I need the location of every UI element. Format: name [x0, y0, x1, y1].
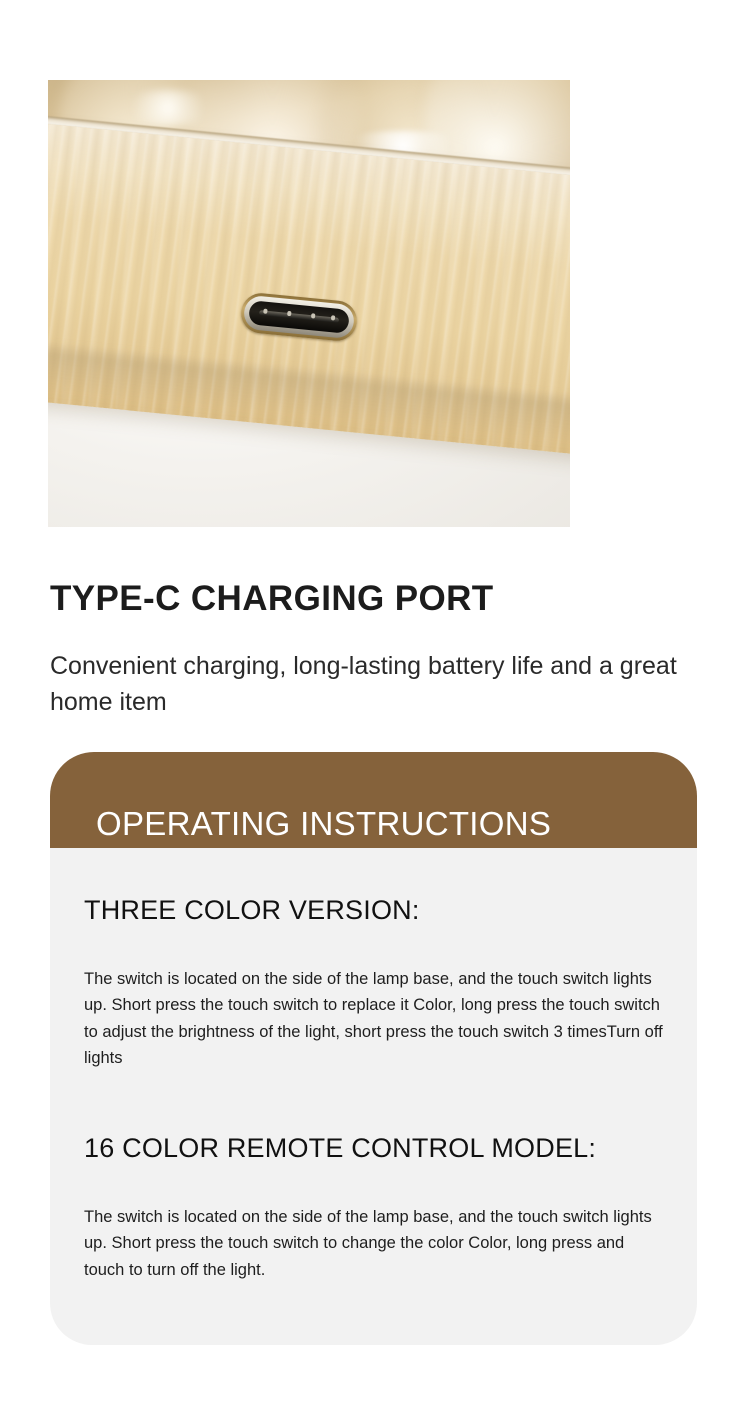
instructions-banner: OPERATING INSTRUCTIONS [50, 752, 697, 848]
product-photo-scene [48, 80, 570, 527]
feature-title: TYPE-C CHARGING PORT [50, 579, 710, 618]
resin-gloss-spot-secondary [121, 90, 215, 126]
section-body: The switch is located on the side of the… [84, 966, 664, 1070]
product-photo [48, 80, 570, 527]
instructions-banner-label: OPERATING INSTRUCTIONS [96, 807, 551, 840]
usb-c-port-rim [243, 294, 356, 339]
instruction-section-sixteen-color: 16 COLOR REMOTE CONTROL MODEL: The switc… [84, 1132, 664, 1283]
section-body: The switch is located on the side of the… [84, 1204, 664, 1282]
usb-c-port-tongue [259, 310, 339, 323]
usb-c-port-cavity [248, 300, 350, 334]
feature-description: Convenient charging, long-lasting batter… [50, 649, 700, 720]
operating-instructions-card: OPERATING INSTRUCTIONS THREE COLOR VERSI… [50, 752, 697, 1345]
instructions-panel: THREE COLOR VERSION: The switch is locat… [50, 848, 697, 1345]
section-heading: THREE COLOR VERSION: [84, 894, 664, 926]
section-heading: 16 COLOR REMOTE CONTROL MODEL: [84, 1132, 664, 1164]
instruction-section-three-color: THREE COLOR VERSION: The switch is locat… [84, 894, 664, 1071]
